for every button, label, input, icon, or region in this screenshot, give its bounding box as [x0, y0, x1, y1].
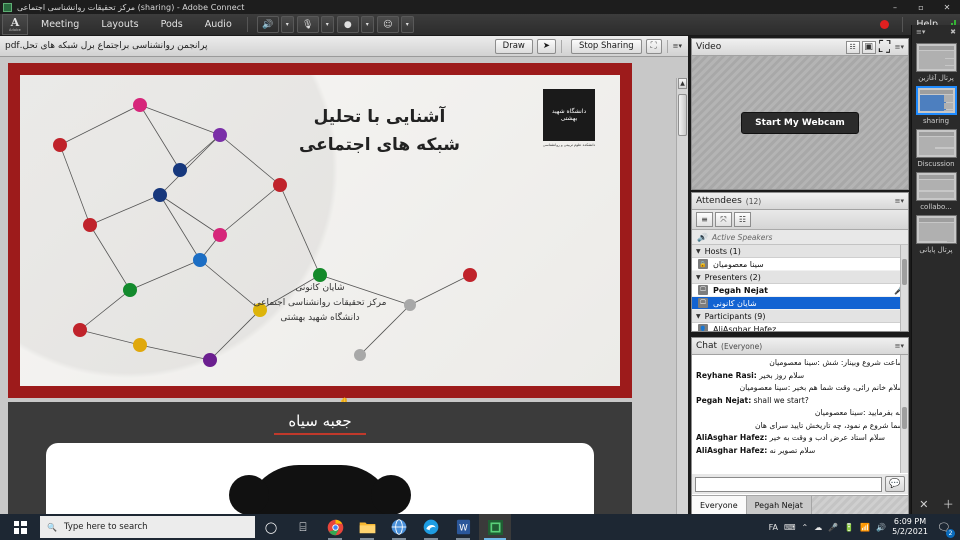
menu-divider — [247, 17, 248, 32]
edge-icon[interactable] — [415, 514, 447, 540]
cortana-icon[interactable]: ◯ — [255, 514, 287, 540]
word-icon[interactable]: W — [447, 514, 479, 540]
layout-label: پرتال پایانی — [916, 246, 957, 254]
video-single-view-icon[interactable]: ▣ — [862, 41, 876, 54]
delete-layout-icon[interactable]: ✕ — [919, 498, 928, 511]
chat-message: Reyhane Rasi: سلام روز بخیر — [696, 370, 904, 382]
layouts-panel-header: ≡▾ ✖ — [912, 25, 960, 39]
chat-pod-menu-icon[interactable]: ≡▾ — [895, 342, 904, 350]
share-divider — [561, 40, 562, 53]
layouts-menu-icon[interactable]: ≡▾ — [916, 28, 925, 36]
taskbar-clock[interactable]: 6:09 PM 5/2/2021 — [892, 517, 928, 537]
chat-message: شما شروع م نمود، چه تاریخش تایید سرای ها… — [696, 420, 904, 432]
chat-message: AliAsghar Hafez: سلام استاد عرض ادب و وق… — [696, 432, 904, 444]
camera-dropdown-icon[interactable]: ▾ — [361, 16, 374, 33]
layout-label: Discussion — [916, 160, 957, 168]
university-logo: دانشگاه شهید بهشتی دانشکده علوم تربیتی و… — [536, 89, 602, 147]
fullscreen-icon[interactable]: ⛶ — [646, 39, 662, 54]
battery-icon[interactable]: 🔋 — [844, 523, 854, 532]
adobe-logo-sub: Adobe — [9, 28, 21, 32]
presenter-dropdown-icon[interactable]: ▾ — [401, 16, 414, 33]
menu-item-audio[interactable]: Audio — [196, 16, 241, 33]
chat-tabs: Everyone Pegah Nejat — [692, 495, 908, 514]
attendees-pod-menu-icon[interactable]: ≡▾ — [895, 197, 904, 205]
send-message-icon[interactable]: 💬 — [885, 476, 905, 492]
adobe-connect-icon[interactable] — [479, 514, 511, 540]
slide-title-line1: آشنایی با تحلیل — [299, 103, 460, 131]
university-logo-mark: دانشگاه شهید بهشتی — [543, 89, 595, 141]
chat-message: ساعت شروع وبینار: شش :سینا معصومیان — [696, 357, 904, 369]
adobe-connect-window: مرکز تحقیقات روانشناسی اجتماعی (sharing)… — [0, 0, 960, 540]
app-icon — [3, 3, 12, 12]
clock-date: 5/2/2021 — [892, 527, 928, 537]
recording-indicator-icon — [880, 20, 889, 29]
microphone-icon[interactable]: 🎙 — [297, 16, 319, 33]
notification-center-icon[interactable]: 🗨 2 — [934, 517, 954, 537]
layout-thumbnail[interactable] — [916, 215, 957, 244]
chat-pod-header: Chat (Everyone) ≡▾ — [692, 338, 908, 355]
participant-avatar-icon: 👤 — [698, 324, 708, 331]
taskbar-search-input[interactable]: 🔍 Type here to search — [40, 516, 255, 538]
start-my-webcam-button[interactable]: Start My Webcam — [741, 112, 859, 134]
layout-item-4[interactable]: پرتال پایانی — [916, 215, 957, 254]
show-hidden-icons-icon[interactable]: ⌃ — [801, 523, 808, 532]
hosts-group-label: Hosts (1) — [705, 247, 741, 256]
layout-item-sharing[interactable]: sharing — [916, 86, 957, 125]
share-pod-header: پرانجمن روانشناسی براجتماع برل شبکه های … — [0, 36, 688, 57]
attendees-pod-header: Attendees (12) ≡▾ — [692, 193, 908, 210]
microphone-dropdown-icon[interactable]: ▾ — [321, 16, 334, 33]
share-scrollbar[interactable]: ▲ ▼ — [676, 78, 688, 514]
slide-2-title: جعبه سیاه — [8, 402, 632, 430]
presenter-avatar-icon: 🖵 — [698, 285, 708, 295]
attendees-pod: Attendees (12) ≡▾ ≡ ⤧ ☷ 🔊 Active Speaker… — [691, 192, 909, 332]
share-pod: پرانجمن روانشناسی براجتماع برل شبکه های … — [0, 36, 688, 514]
start-button[interactable] — [0, 514, 40, 540]
participants-collapse-icon[interactable]: ▼ — [696, 313, 701, 320]
layout-item-collaboration[interactable]: collabo... — [916, 172, 957, 211]
slide-title-line2: شبکه های اجتماعی — [299, 131, 460, 159]
chat-text: سلام تصویر نه — [770, 446, 816, 455]
menu-item-layouts[interactable]: Layouts — [92, 16, 147, 33]
attendees-toolbar: ≡ ⤧ ☷ — [692, 210, 908, 230]
task-view-icon[interactable]: ⌸ — [287, 514, 319, 540]
onedrive-icon[interactable]: ☁ — [814, 523, 822, 532]
attendee-row-participant-0[interactable]: 👤 AliAsghar Hafez — [692, 323, 908, 331]
attendee-row-host-0[interactable]: 🔒 سینا معصومیان — [692, 258, 908, 271]
video-pod-header: Video ☷ ▣ ⛶ ≡▾ — [692, 39, 908, 56]
keyboard-icon[interactable]: ⌨ — [784, 523, 796, 532]
microphone-tray-icon[interactable]: 🎤 — [828, 523, 838, 532]
chat-scrollbar[interactable] — [900, 355, 908, 473]
person-view-icon[interactable]: ☷ — [734, 212, 751, 227]
host-avatar-icon: 🔒 — [698, 259, 708, 269]
wifi-icon[interactable]: 📶 — [860, 523, 870, 532]
chat-scope-label: (Everyone) — [721, 342, 762, 351]
volume-icon[interactable]: 🔊 — [876, 523, 886, 532]
system-tray: FA ⌨ ⌃ ☁ 🎤 🔋 📶 🔊 6:09 PM 5/2/2021 🗨 2 — [769, 514, 960, 540]
attendee-row-presenter-0[interactable]: 🖵 Pegah Nejat 🎤 — [692, 284, 908, 297]
menu-divider-right — [902, 17, 903, 32]
attendee-group-participants[interactable]: ▼ Participants (9) — [692, 310, 908, 323]
slide-author-block: شایان کانونی مرکز تحقیقات روانشناسی اجتم… — [20, 281, 620, 326]
search-placeholder: Type here to search — [64, 522, 148, 532]
attendees-scrollbar[interactable] — [900, 245, 908, 331]
video-fullscreen-icon[interactable]: ⛶ — [878, 41, 892, 54]
video-pod-menu-icon[interactable]: ≡▾ — [895, 43, 904, 51]
draw-button[interactable]: Draw — [495, 39, 533, 54]
chat-sender: Pegah Nejat: — [696, 396, 751, 405]
chat-tab-everyone[interactable]: Everyone — [692, 496, 747, 514]
clock-time: 6:09 PM — [892, 517, 928, 527]
notification-badge: 2 — [946, 529, 955, 538]
slide-2: جعبه سیاه — [8, 402, 632, 514]
menu-item-meeting[interactable]: Meeting — [32, 16, 88, 33]
chat-messages[interactable]: ساعت شروع وبینار: شش :سینا معصومیان Reyh… — [692, 355, 908, 473]
attendees-list[interactable]: ▼ Hosts (1) 🔒 سینا معصومیان ▼ Presenters… — [692, 245, 908, 331]
stop-sharing-button[interactable]: Stop Sharing — [571, 39, 642, 54]
chat-input-row: 💬 — [692, 474, 908, 494]
scroll-up-icon[interactable]: ▲ — [678, 78, 687, 89]
video-pod-body: Start My Webcam — [692, 56, 908, 189]
presenters-group-label: Presenters (2) — [705, 273, 761, 282]
presenters-collapse-icon[interactable]: ▼ — [696, 274, 701, 281]
attendees-count: (12) — [746, 197, 761, 206]
chat-text: سلام استاد عرض ادب و وقت به خیر — [770, 433, 885, 442]
attendee-group-presenters[interactable]: ▼ Presenters (2) — [692, 271, 908, 284]
layout-thumbnail[interactable] — [916, 43, 957, 72]
slide-university: دانشگاه شهید بهشتی — [20, 311, 620, 326]
add-layout-icon[interactable]: ＋ — [943, 496, 954, 512]
layout-label: collabo... — [916, 203, 957, 211]
chat-message: Pegah Nejat: shall we start? — [696, 395, 904, 407]
adobe-logo-letter: A — [11, 18, 20, 28]
speaker-dropdown-icon[interactable]: ▾ — [281, 16, 294, 33]
file-explorer-icon[interactable] — [351, 514, 383, 540]
browser-icon[interactable] — [383, 514, 415, 540]
slide-center: مرکز تحقیقات روانشناسی اجتماعی — [20, 296, 620, 311]
layout-label: sharing — [916, 117, 957, 125]
minimize-button[interactable]: – — [882, 0, 908, 14]
shared-file-name: پرانجمن روانشناسی براجتماع برل شبکه های … — [0, 41, 208, 51]
share-pod-body[interactable]: دانشگاه شهید بهشتی دانشکده علوم تربیتی و… — [0, 57, 688, 514]
search-icon: 🔍 — [47, 523, 57, 532]
chat-sender: AliAsghar Hafez: — [696, 446, 767, 455]
active-speakers-label: Active Speakers — [712, 233, 772, 242]
chat-sender: Reyhane Rasi: — [696, 371, 757, 380]
slide-2-underline — [274, 433, 366, 435]
language-indicator[interactable]: FA — [769, 523, 778, 532]
attendees-scrollbar-thumb[interactable] — [902, 259, 907, 285]
attendee-name: سینا معصومیان — [713, 260, 764, 269]
chat-text: shall we start? — [754, 396, 809, 405]
chat-message: AliAsghar Hafez: سلام تصویر نه — [696, 445, 904, 457]
chat-message: بله بفرمایید :سینا معصومیان — [696, 407, 904, 419]
slide-title: آشنایی با تحلیل شبکه های اجتماعی — [299, 103, 460, 159]
attendee-name: شایان کانونی — [713, 299, 757, 308]
camera-icon[interactable]: ● — [337, 16, 359, 33]
adobe-logo: A Adobe — [2, 14, 28, 35]
video-pod: Video ☷ ▣ ⛶ ≡▾ Start My Webcam — [691, 38, 909, 190]
chat-sender: AliAsghar Hafez: — [696, 433, 767, 442]
windows-logo-icon — [14, 521, 27, 534]
window-title: مرکز تحقیقات روانشناسی اجتماعی (sharing)… — [17, 3, 245, 12]
layouts-actions: ✕ ＋ — [912, 494, 960, 514]
layouts-close-icon[interactable]: ✖ — [950, 28, 956, 36]
menu-bar: A Adobe Meeting Layouts Pods Audio 🔊 ▾ 🎙… — [0, 14, 960, 36]
university-logo-caption: دانشکده علوم تربیتی و روانشناسی — [536, 143, 602, 147]
hosts-collapse-icon[interactable]: ▼ — [696, 248, 701, 255]
maximize-button[interactable]: ▫ — [908, 0, 934, 14]
speaker-icon[interactable]: 🔊 — [257, 16, 279, 33]
participants-group-label: Participants (9) — [705, 312, 766, 321]
close-button[interactable]: ✕ — [934, 0, 960, 14]
slide-1: دانشگاه شهید بهشتی دانشکده علوم تربیتی و… — [8, 63, 632, 398]
layout-item-discussion[interactable]: Discussion — [916, 129, 957, 168]
pods-view-icon[interactable]: ⤧ — [715, 212, 732, 227]
layouts-panel: ≡▾ ✖ پرتال آغازین sharing Discussion — [911, 25, 960, 514]
chrome-icon[interactable] — [319, 514, 351, 540]
slide-2-card — [46, 443, 594, 514]
chat-text: سلام روز بخیر — [759, 371, 804, 380]
layout-thumbnail[interactable] — [916, 172, 957, 201]
chat-input[interactable] — [695, 477, 882, 492]
video-grid-view-icon[interactable]: ☷ — [846, 41, 860, 54]
chat-pod: Chat (Everyone) ≡▾ ساعت شروع وبینار: شش … — [691, 337, 909, 514]
attendee-name: AliAsghar Hafez — [713, 325, 776, 332]
share-pod-menu-icon[interactable]: ≡▾ — [673, 42, 682, 50]
video-pod-title: Video — [696, 42, 721, 52]
chat-message: سلام خانم رائی، وقت شما هم بخیر :سینا مع… — [696, 382, 904, 394]
pointer-icon[interactable]: ➤ — [537, 39, 556, 54]
title-bar: مرکز تحقیقات روانشناسی اجتماعی (sharing)… — [0, 0, 960, 14]
attendee-group-hosts[interactable]: ▼ Hosts (1) — [692, 245, 908, 258]
chat-scrollbar-thumb[interactable] — [902, 407, 907, 429]
share-divider-2 — [667, 40, 668, 53]
brain-illustration — [245, 465, 395, 514]
pdf-document: دانشگاه شهید بهشتی دانشکده علوم تربیتی و… — [0, 57, 640, 514]
layout-item-0[interactable]: پرتال آغازین — [916, 43, 957, 82]
svg-text:W: W — [459, 524, 468, 534]
presenter-avatar-icon: 🖵 — [698, 298, 708, 308]
chat-tab-pegah-nejat[interactable]: Pegah Nejat — [747, 496, 812, 514]
menu-item-pods[interactable]: Pods — [152, 16, 192, 33]
layout-thumbnail-selected[interactable] — [916, 86, 957, 115]
presenter-icon[interactable]: ☺ — [377, 16, 399, 33]
windows-taskbar: 🔍 Type here to search ◯ ⌸ W FA ⌨ ⌃ ☁ 🎤 — [0, 514, 960, 540]
layout-thumbnail[interactable] — [916, 129, 957, 158]
attendee-row-presenter-1[interactable]: 🖵 شایان کانونی — [692, 297, 908, 310]
window-controls: – ▫ ✕ — [882, 0, 960, 14]
list-view-icon[interactable]: ≡ — [696, 212, 713, 227]
scrollbar-thumb[interactable] — [678, 94, 687, 136]
active-speaker-icon: 🔊 — [697, 233, 707, 242]
attendee-name: Pegah Nejat — [713, 286, 768, 295]
layout-label: پرتال آغازین — [916, 74, 957, 82]
slide-author: شایان کانونی — [20, 281, 620, 296]
attendees-pod-title: Attendees — [696, 196, 742, 206]
chat-pod-title: Chat — [696, 341, 717, 351]
active-speakers-row: 🔊 Active Speakers — [692, 230, 908, 245]
